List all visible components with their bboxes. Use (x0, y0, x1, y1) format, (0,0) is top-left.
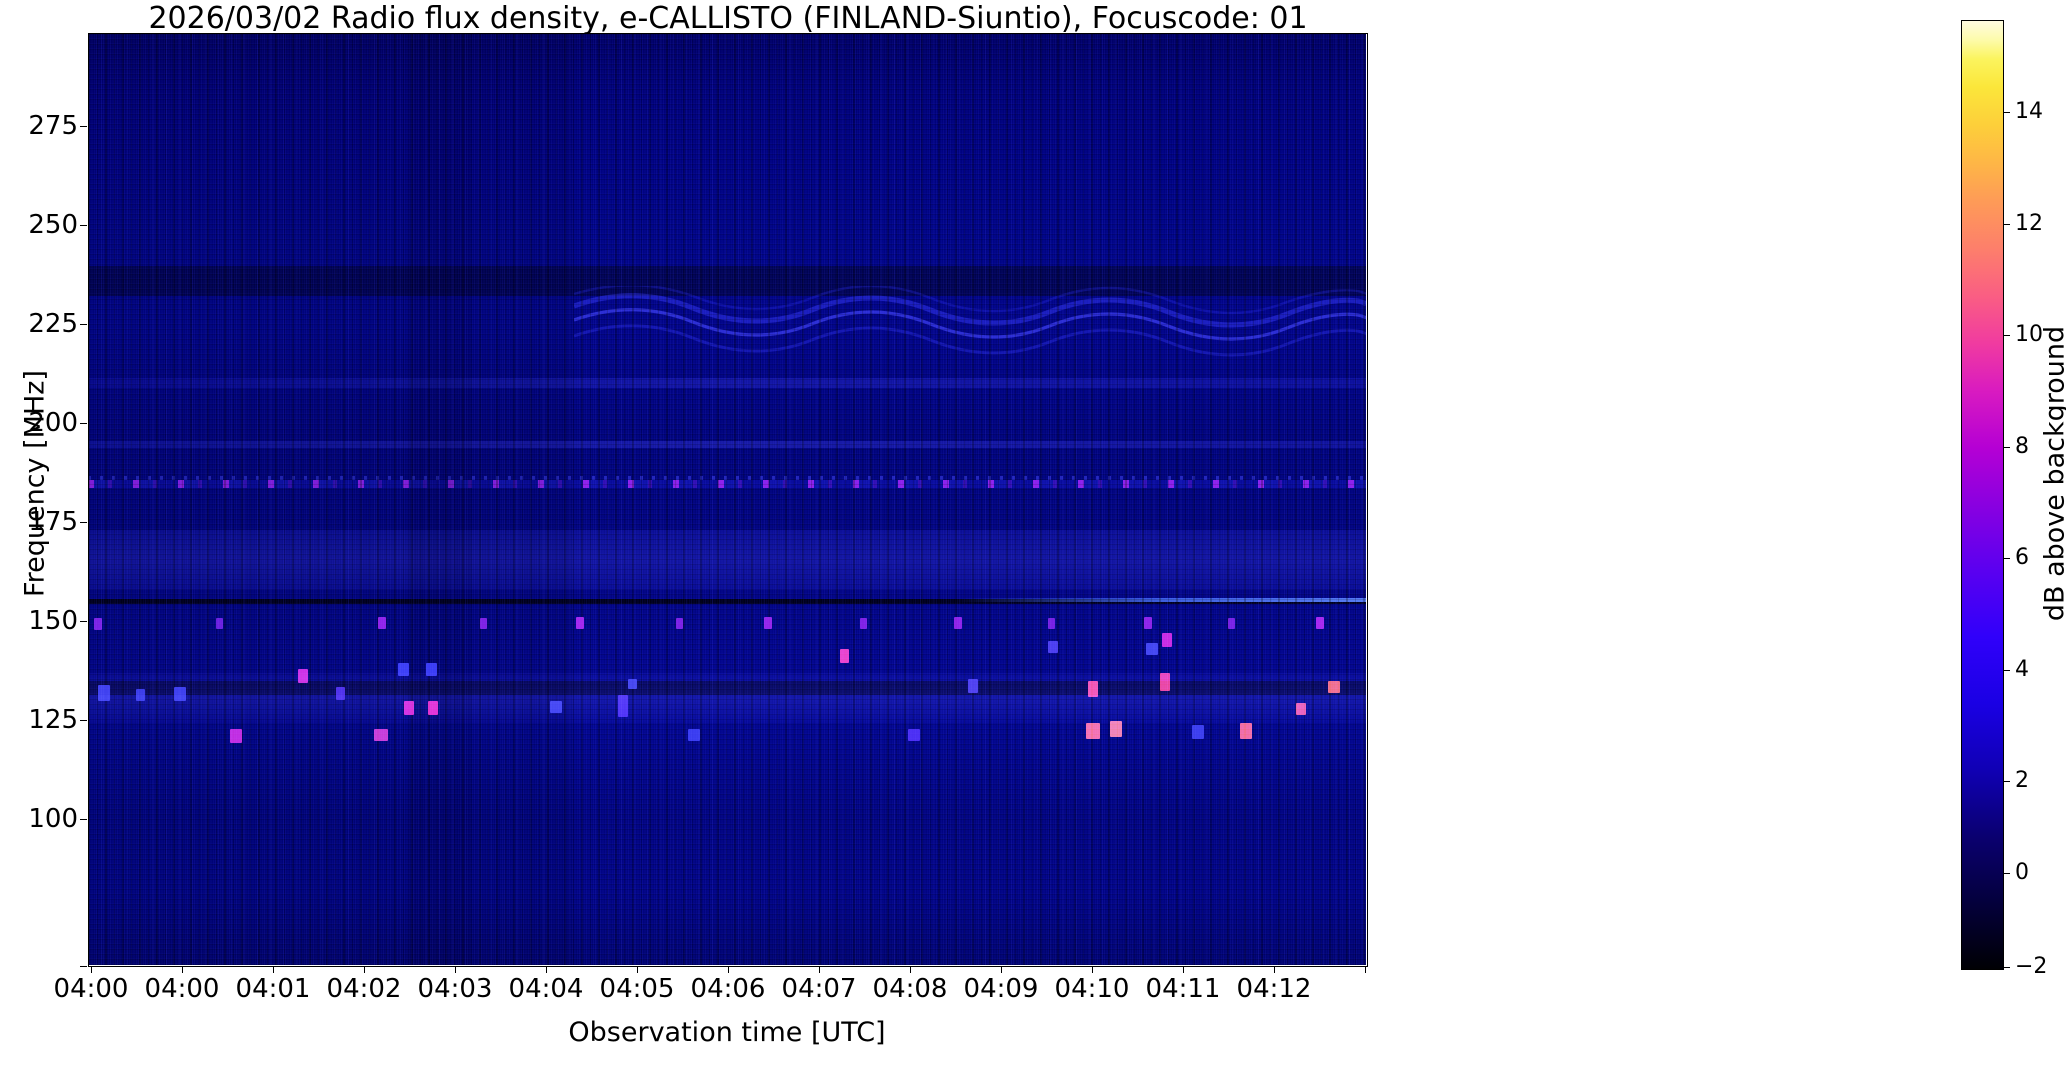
rfi-spot (550, 701, 562, 713)
colorbar-tick-label: 0 (2015, 862, 2029, 884)
rfi-spot (676, 618, 683, 629)
rfi-spot (1144, 617, 1152, 629)
x-tick-label: 04:06 (691, 975, 766, 1003)
rfi-spot (860, 618, 867, 629)
rfi-spot (428, 701, 438, 715)
x-tick-mark (1274, 966, 1275, 973)
x-tick-label: 04:05 (600, 975, 675, 1003)
y-tick-label: 100 (28, 806, 78, 832)
rfi-spot (954, 617, 962, 629)
colorbar-tick-mark (2003, 447, 2010, 448)
colorbar-tick-mark (2003, 967, 2010, 968)
rfi-spot (1048, 641, 1058, 653)
y-tick-mark (80, 720, 87, 721)
x-tick-mark (91, 966, 92, 973)
x-tick-mark (1092, 966, 1093, 973)
colorbar-label: dB above background (2040, 224, 2066, 724)
x-tick-mark (273, 966, 274, 973)
rfi-spot (1162, 633, 1172, 647)
y-axis-label: Frequency [MHz] (20, 234, 51, 734)
rfi-spot (628, 679, 637, 689)
rfi-spot (1228, 618, 1235, 629)
rfi-spot (576, 617, 584, 629)
rfi-spot (174, 687, 186, 701)
rfi-spot (216, 618, 223, 629)
rfi-spot (404, 701, 414, 715)
rfi-spot (764, 617, 772, 629)
spectrogram-plot[interactable] (88, 33, 1366, 965)
rfi-spot (688, 729, 700, 741)
x-tick-label: 04:12 (1237, 975, 1312, 1003)
y-tick-mark (80, 126, 87, 127)
noise-texture-horizontal (88, 33, 1366, 965)
rfi-spot (1296, 703, 1306, 715)
rfi-spot (908, 729, 920, 741)
rfi-spot (230, 729, 242, 743)
x-tick-label: 04:03 (418, 975, 493, 1003)
x-tick-mark (819, 966, 820, 973)
rfi-spot (968, 679, 978, 693)
x-tick-mark (1183, 966, 1184, 973)
rfi-spot (480, 618, 487, 629)
colorbar-tick-mark (2003, 335, 2010, 336)
x-tick-label: 04:01 (236, 975, 311, 1003)
colorbar-tick-label: 4 (2015, 659, 2029, 681)
rfi-spot (298, 669, 308, 683)
y-tick-mark (80, 522, 87, 523)
rfi-spot (1328, 681, 1340, 693)
rfi-spot (426, 663, 437, 676)
colorbar-tick-label: 8 (2015, 436, 2029, 458)
rfi-spot (1048, 618, 1055, 629)
rfi-spot (378, 617, 386, 629)
x-tick-mark (182, 966, 183, 973)
rfi-spot (374, 729, 388, 741)
rfi-spot (1110, 721, 1122, 737)
colorbar-tick-mark (2003, 670, 2010, 671)
x-tick-label: 04:00 (54, 975, 129, 1003)
colorbar-tick-label: −2 (2015, 956, 2047, 978)
y-tick-mark (80, 324, 87, 325)
rfi-spot (1088, 681, 1098, 697)
rfi-spot (336, 687, 345, 700)
rfi-spot (398, 663, 409, 676)
x-tick-mark (455, 966, 456, 973)
x-tick-mark (910, 966, 911, 973)
x-tick-mark (728, 966, 729, 973)
colorbar-tick-label: 6 (2015, 547, 2029, 569)
y-tick-mark (80, 819, 87, 820)
x-tick-mark (1001, 966, 1002, 973)
colorbar-tick-mark (2003, 781, 2010, 782)
y-tick-mark (80, 966, 87, 967)
colorbar-tick-label: 14 (2015, 101, 2043, 123)
x-tick-label: 04:11 (1146, 975, 1221, 1003)
y-tick-mark (80, 423, 87, 424)
colorbar[interactable] (1961, 20, 2004, 970)
x-tick-mark (546, 966, 547, 973)
rfi-spot (618, 695, 628, 717)
rfi-spot (1192, 725, 1204, 739)
colorbar-tick-mark (2003, 873, 2010, 874)
rfi-spot (1160, 673, 1170, 691)
rfi-spot (94, 618, 102, 630)
rfi-spot (98, 685, 110, 701)
y-tick-label: 275 (28, 113, 78, 139)
colorbar-tick-mark (2003, 112, 2010, 113)
x-axis-label: Observation time [UTC] (88, 1017, 1366, 1048)
x-tick-mark (1365, 966, 1366, 973)
x-tick-mark (364, 966, 365, 973)
y-tick-mark (80, 225, 87, 226)
x-tick-label: 04:07 (782, 975, 857, 1003)
rfi-spot (1086, 723, 1100, 739)
x-tick-label: 04:02 (327, 975, 402, 1003)
rfi-spot (1316, 617, 1324, 629)
x-tick-label: 04:04 (509, 975, 584, 1003)
page-title: 2026/03/02 Radio flux density, e-CALLIST… (88, 2, 1368, 36)
rfi-spot (840, 649, 849, 663)
x-tick-mark (637, 966, 638, 973)
rfi-spot (1146, 643, 1158, 655)
x-tick-label: 04:09 (964, 975, 1039, 1003)
rfi-spot (136, 689, 145, 701)
x-tick-label: 04:08 (873, 975, 948, 1003)
x-axis: 04:00 04:00 04:01 04:02 04:03 04:04 04:0… (88, 966, 1366, 1016)
y-tick-mark (80, 621, 87, 622)
spectrogram-figure: 2026/03/02 Radio flux density, e-CALLIST… (0, 0, 2066, 1067)
colorbar-tick-mark (2003, 224, 2010, 225)
x-tick-label: 04:00 (145, 975, 220, 1003)
colorbar-tick-label: 2 (2015, 770, 2029, 792)
x-tick-label: 04:10 (1055, 975, 1130, 1003)
colorbar-tick-mark (2003, 558, 2010, 559)
rfi-spot (1240, 723, 1252, 739)
